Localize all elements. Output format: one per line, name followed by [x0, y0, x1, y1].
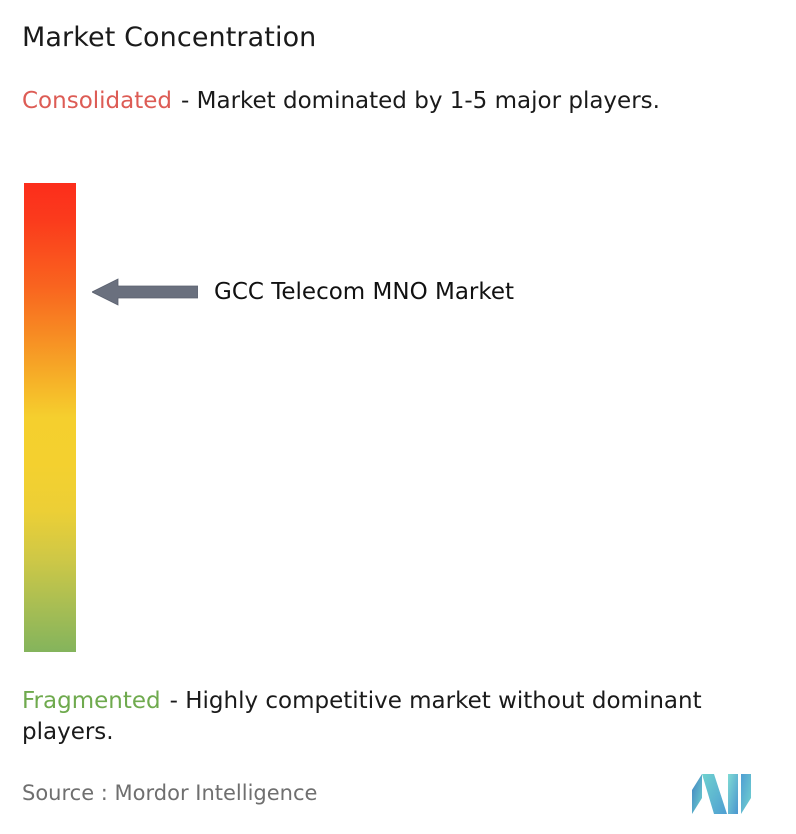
source-attribution: Source : Mordor Intelligence [22, 780, 317, 807]
page-title: Market Concentration [22, 21, 316, 55]
annotation-label: GCC Telecom MNO Market [214, 278, 514, 306]
arrow-left-icon [92, 278, 198, 306]
market-position-annotation: GCC Telecom MNO Market [92, 278, 514, 306]
consolidated-description: Consolidated- Market dominated by 1-5 ma… [22, 86, 774, 117]
consolidated-keyword: Consolidated [22, 88, 172, 114]
fragmented-description: Fragmented- Highly competitive market wi… [22, 686, 782, 748]
fragmented-keyword: Fragmented [22, 688, 161, 714]
consolidated-description-text: - Market dominated by 1-5 major players. [181, 88, 660, 114]
market-concentration-chart: Market Concentration Consolidated- Marke… [0, 0, 796, 834]
concentration-gradient-scale [24, 183, 76, 652]
mordor-intelligence-logo [692, 770, 758, 818]
